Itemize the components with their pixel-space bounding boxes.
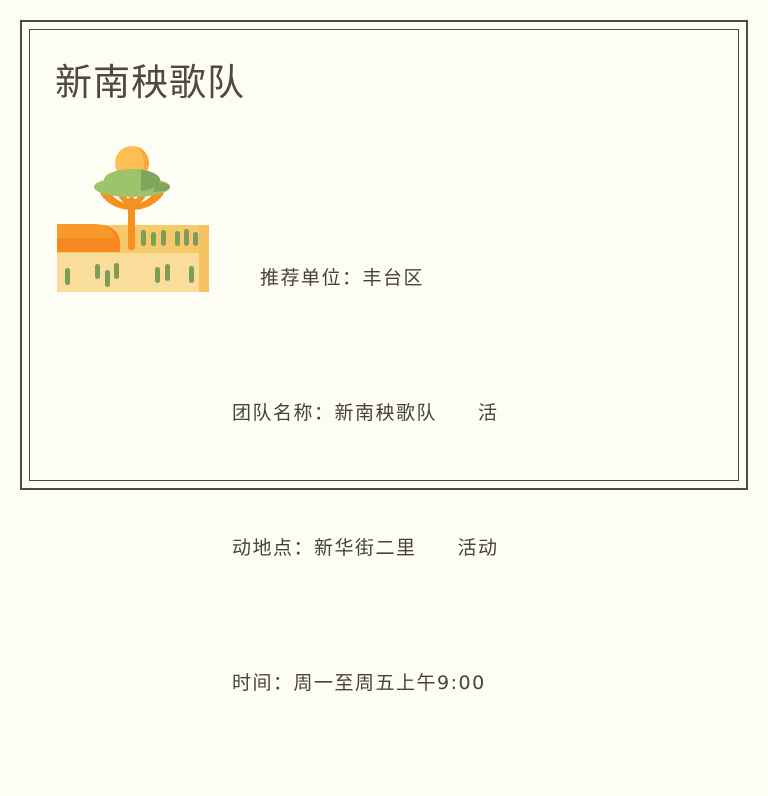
ground-lower-band [57,252,209,292]
activity-details: 推荐单位：丰台区 团队名称：新南秧歌队 活 动地点：新华街二里 活动 时间：周一… [232,166,612,796]
detail-line-3: 动地点：新华街二里 活动 [232,526,612,571]
ground-right-shadow [199,225,209,292]
poster-canvas: 新南秧歌队 [0,0,768,510]
detail-line-4: 时间：周一至周五上午9:00 [232,661,612,706]
page-title: 新南秧歌队 [55,58,245,108]
savanna-scene-illustration [57,140,209,292]
detail-line-1: 推荐单位：丰台区 [232,256,612,301]
detail-line-2: 团队名称：新南秧歌队 活 [232,391,612,436]
